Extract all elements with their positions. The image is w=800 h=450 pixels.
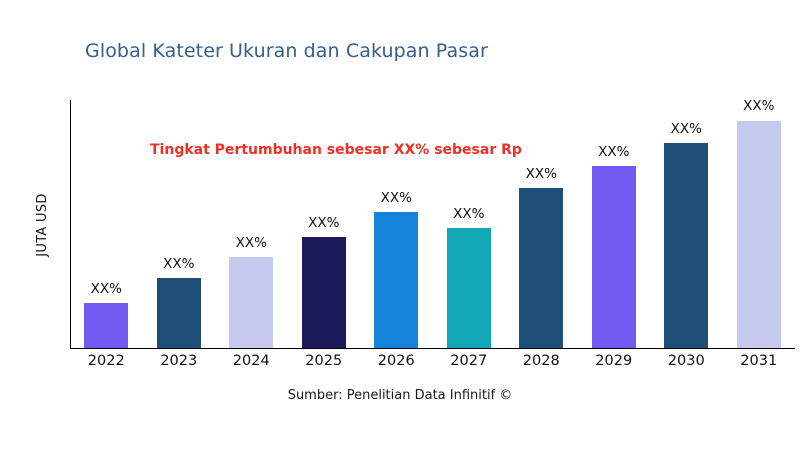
bar-2028 xyxy=(519,188,563,348)
bar-group: XX% xyxy=(215,100,288,348)
bar-group: XX% xyxy=(650,100,723,348)
bar-2029 xyxy=(592,166,636,348)
x-tick-2030: 2030 xyxy=(650,353,723,377)
page-title: Global Kateter Ukuran dan Cakupan Pasar xyxy=(85,40,488,62)
bar-group: XX% xyxy=(578,100,651,348)
x-tick-2025: 2025 xyxy=(288,353,361,377)
bar-2030 xyxy=(664,143,708,348)
bar-value-label: XX% xyxy=(526,168,557,182)
bar-2022 xyxy=(84,303,128,348)
x-tick-2028: 2028 xyxy=(505,353,578,377)
x-tick-2026: 2026 xyxy=(360,353,433,377)
bar-group: XX% xyxy=(505,100,578,348)
bar-2031 xyxy=(737,121,781,349)
bar-series: XX%XX%XX%XX%XX%XX%XX%XX%XX%XX% xyxy=(70,100,795,348)
bar-group: XX% xyxy=(723,100,796,348)
bar-2025 xyxy=(302,237,346,348)
bar-value-label: XX% xyxy=(91,283,122,297)
bar-chart: Global Kateter Ukuran dan Cakupan Pasar … xyxy=(0,0,800,450)
x-tick-2027: 2027 xyxy=(433,353,506,377)
bar-value-label: XX% xyxy=(163,258,194,272)
bar-group: XX% xyxy=(143,100,216,348)
bar-2026 xyxy=(374,212,418,348)
bar-value-label: XX% xyxy=(308,217,339,231)
bar-value-label: XX% xyxy=(671,123,702,137)
bar-value-label: XX% xyxy=(381,192,412,206)
bar-2023 xyxy=(157,278,201,348)
bar-group: XX% xyxy=(433,100,506,348)
x-tick-2023: 2023 xyxy=(143,353,216,377)
bar-group: XX% xyxy=(288,100,361,348)
bar-group: XX% xyxy=(70,100,143,348)
bar-2024 xyxy=(229,257,273,348)
bar-2027 xyxy=(447,228,491,348)
bar-group: XX% xyxy=(360,100,433,348)
x-tick-2024: 2024 xyxy=(215,353,288,377)
bar-value-label: XX% xyxy=(598,146,629,160)
bar-value-label: XX% xyxy=(743,100,774,114)
x-tick-2031: 2031 xyxy=(723,353,796,377)
x-tick-2022: 2022 xyxy=(70,353,143,377)
x-axis-tick-labels: 2022202320242025202620272028202920302031 xyxy=(70,353,795,377)
source-caption: Sumber: Penelitian Data Infinitif © xyxy=(0,388,800,403)
plot-area: Tingkat Pertumbuhan sebesar XX% sebesar … xyxy=(70,100,795,349)
y-axis-label: JUTA USD xyxy=(35,125,51,325)
x-tick-2029: 2029 xyxy=(578,353,651,377)
bar-value-label: XX% xyxy=(453,208,484,222)
bar-value-label: XX% xyxy=(236,237,267,251)
